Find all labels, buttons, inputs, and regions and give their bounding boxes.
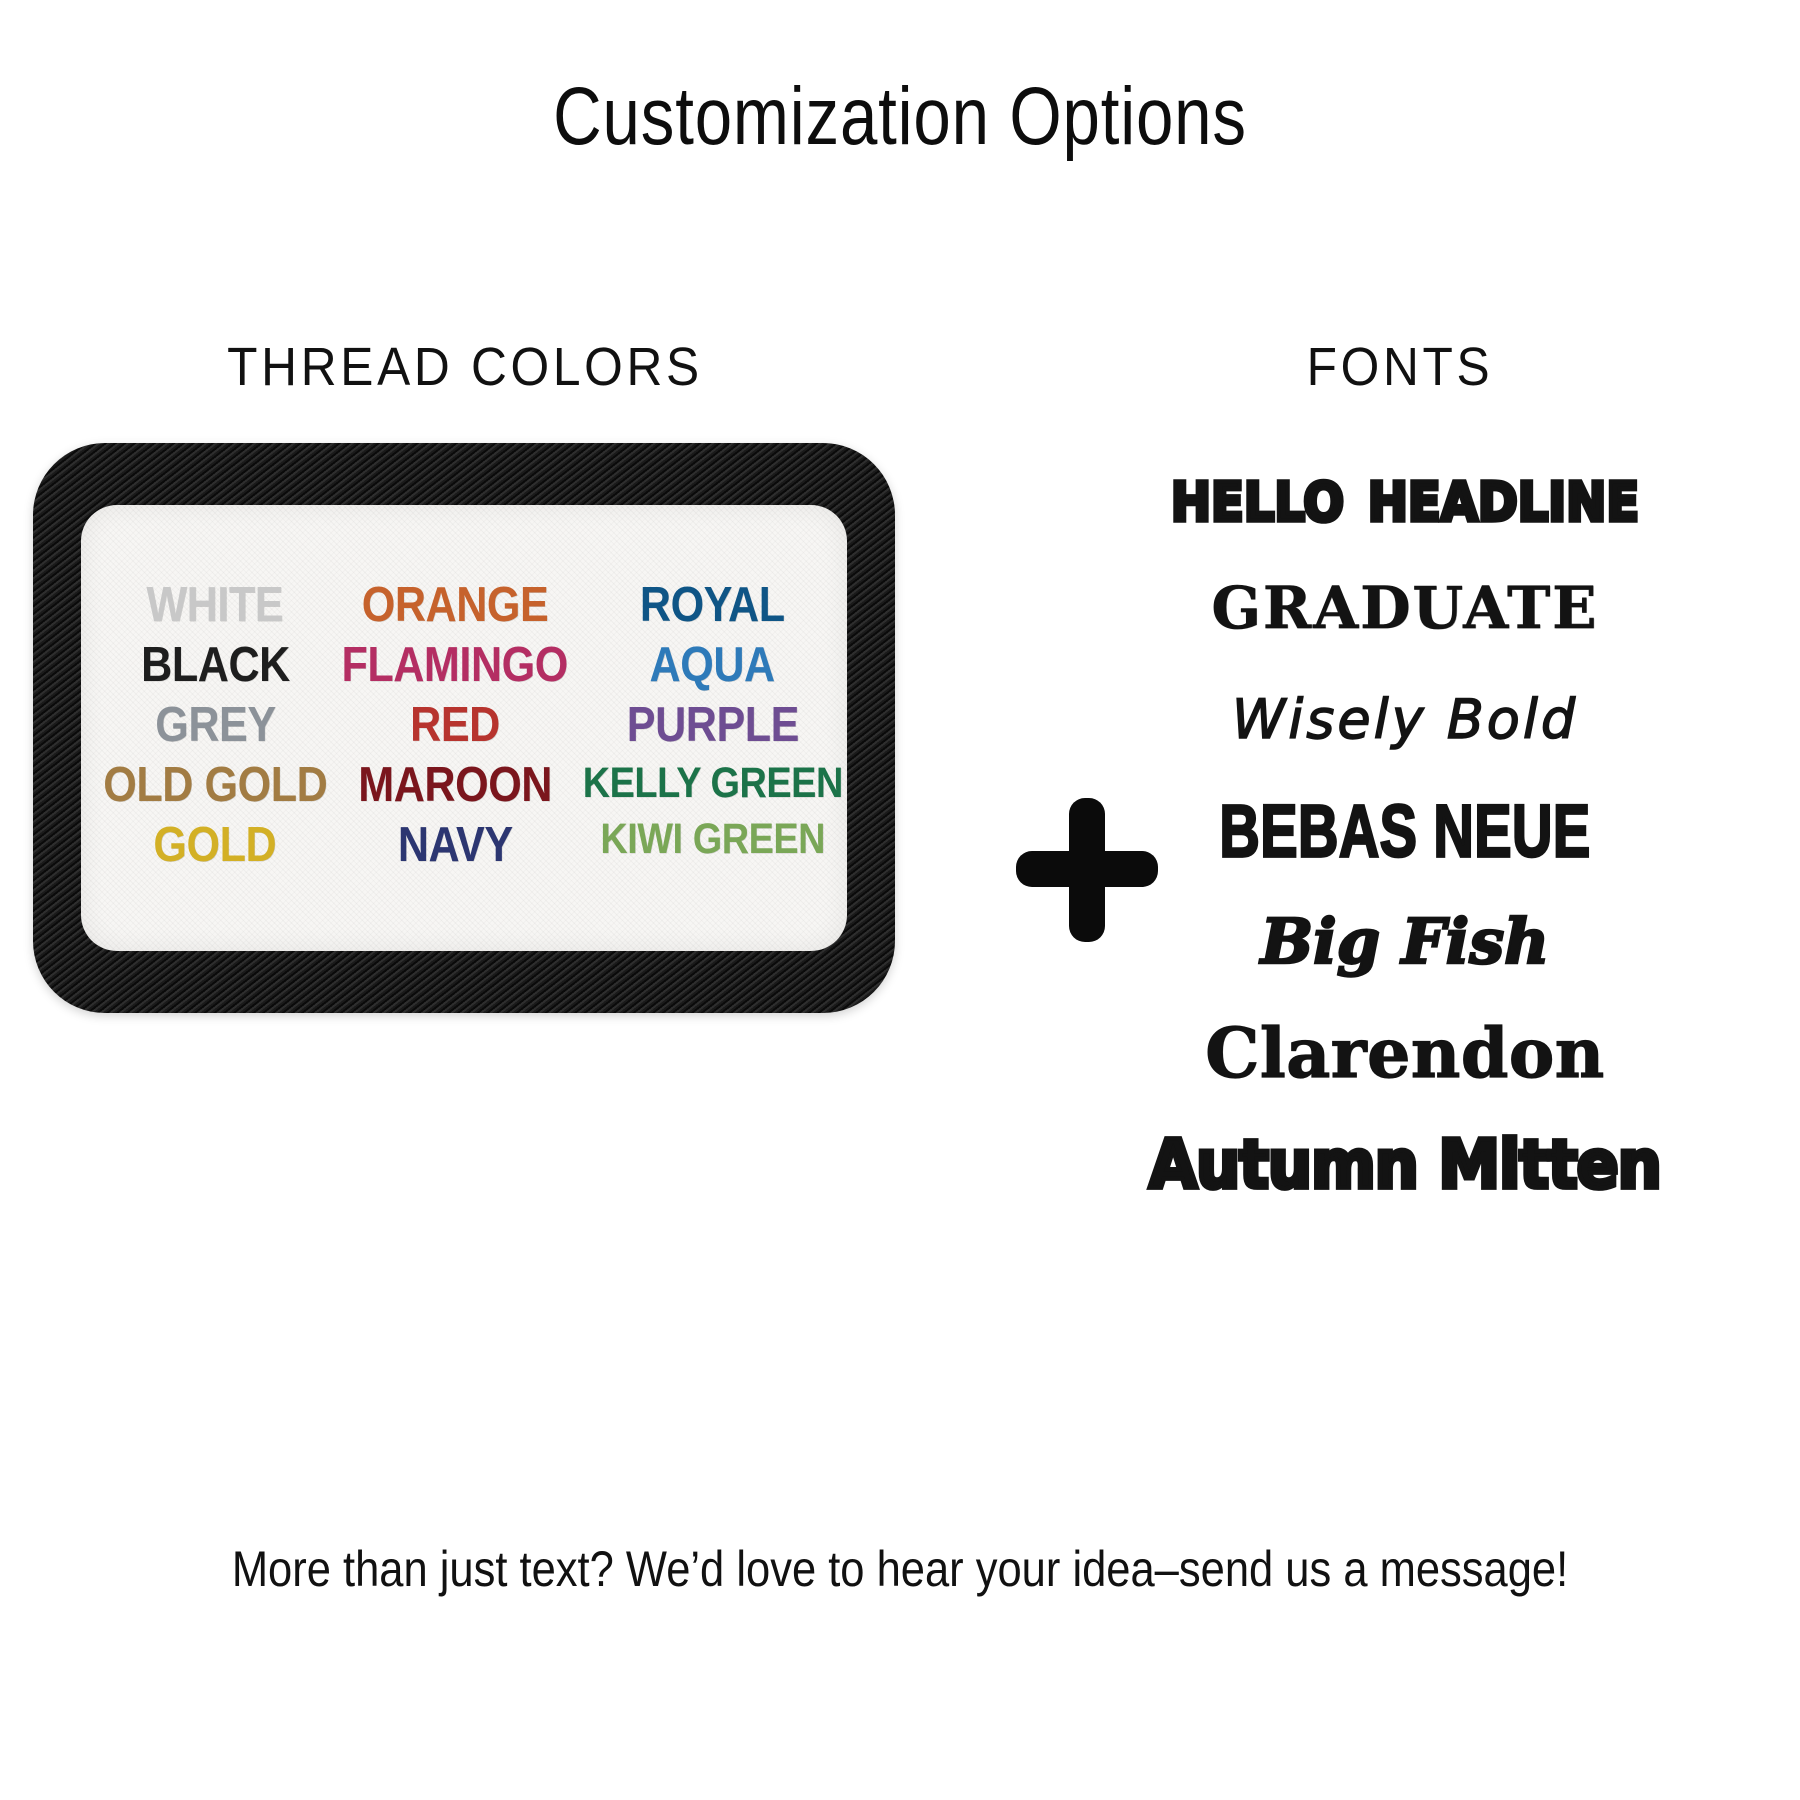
- thread-color-grey: GREY: [155, 697, 275, 753]
- thread-color-column-1: WHITEBLACKGREYOLD GOLDGOLD: [95, 577, 335, 873]
- thread-color-aqua: AQUA: [650, 637, 775, 693]
- thread-color-purple: PURPLE: [626, 697, 798, 753]
- thread-color-maroon: MAROON: [358, 757, 552, 813]
- footer-note: More than just text? We’d love to hear y…: [117, 1540, 1683, 1598]
- thread-color-column-2: ORANGEFLAMINGOREDMAROONNAVY: [335, 577, 575, 873]
- thread-color-kiwi-green: KIWI GREEN: [600, 813, 825, 865]
- font-sample-list: HeLLO HeaDLINeGRADUATEWisely BoldBEBAS N…: [1010, 440, 1800, 1220]
- thread-color-red: RED: [410, 697, 500, 753]
- thread-color-column-3: ROYALAQUAPURPLEKELLY GREENKIWI GREEN: [575, 577, 847, 873]
- font-sample-wisely-bold: Wisely Bold: [1232, 664, 1578, 776]
- font-sample-graduate: GRADUATE: [1211, 552, 1598, 664]
- fonts-heading: FONTS: [1032, 336, 1768, 398]
- thread-color-flamingo: FLAMINGO: [342, 637, 568, 693]
- thread-colors-heading: THREAD COLORS: [37, 336, 893, 398]
- font-sample-bebas-neue: BEBAS NEUE: [1219, 773, 1590, 890]
- thread-color-kelly-green: KELLY GREEN: [582, 757, 842, 809]
- font-sample-clarendon: Clarendon: [1205, 998, 1604, 1110]
- font-sample-big-fish: Big Fish: [1261, 886, 1549, 998]
- thread-color-grid: WHITEBLACKGREYOLD GOLDGOLDORANGEFLAMINGO…: [81, 577, 847, 873]
- thread-color-black: BLACK: [141, 637, 290, 693]
- thread-color-patch: WHITEBLACKGREYOLD GOLDGOLDORANGEFLAMINGO…: [33, 443, 895, 1013]
- patch-twill-face: WHITEBLACKGREYOLD GOLDGOLDORANGEFLAMINGO…: [81, 505, 847, 951]
- thread-color-old-gold: OLD GOLD: [103, 757, 327, 813]
- thread-color-gold: GOLD: [154, 817, 277, 873]
- customization-options-page: Customization Options THREAD COLORS FONT…: [0, 0, 1800, 1800]
- thread-color-white: WHITE: [147, 577, 284, 633]
- font-sample-hello-headline: HeLLO HeaDLINe: [1171, 433, 1639, 558]
- page-title: Customization Options: [162, 70, 1638, 164]
- thread-color-royal: ROYAL: [640, 577, 785, 633]
- thread-color-navy: NAVY: [398, 817, 513, 873]
- thread-color-orange: ORANGE: [362, 577, 549, 633]
- font-sample-autumn-mitten: Autumn Mitten: [1149, 1106, 1661, 1225]
